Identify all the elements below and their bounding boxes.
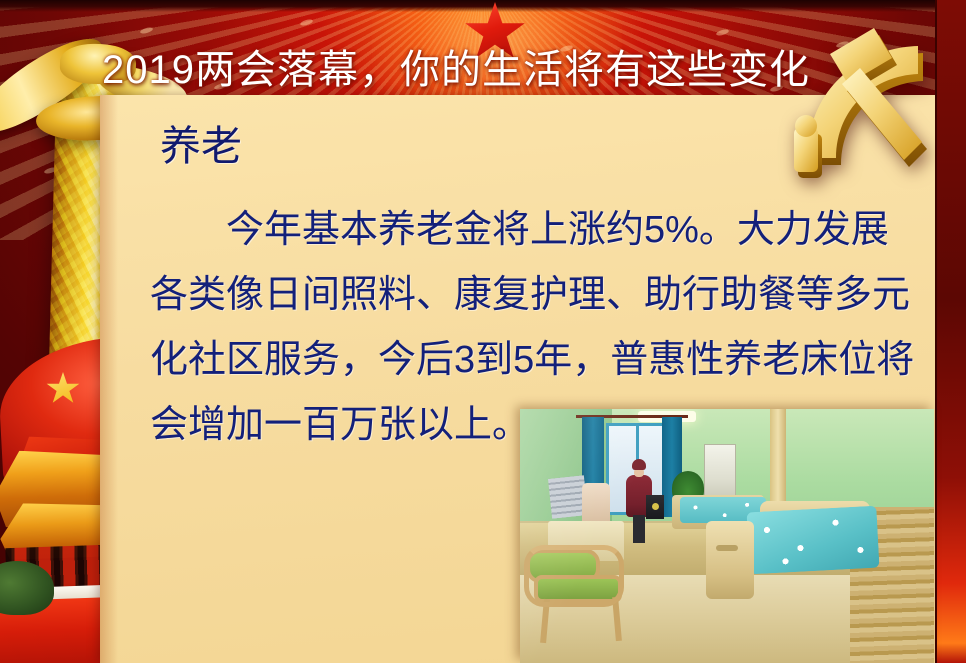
right-edge-strip [935,0,966,663]
body-line-2: 各类像日间照料、康复护理、助行助餐等多元 [150,263,910,328]
body-line-1: 今年基本养老金将上涨约5%。大力发展 [150,198,910,263]
nursing-home-photo [520,409,934,663]
slide-title: 2019两会落幕，你的生活将有这些变化 [102,50,810,90]
hammer-and-sickle-icon [768,10,958,190]
body-line-3: 化社区服务，今后3到5年，普惠性养老床位将 [150,328,910,393]
presentation-slide: 中华人民共和国万岁 世界人民大团结万岁 [0,0,966,663]
section-heading: 养老 [160,126,242,167]
